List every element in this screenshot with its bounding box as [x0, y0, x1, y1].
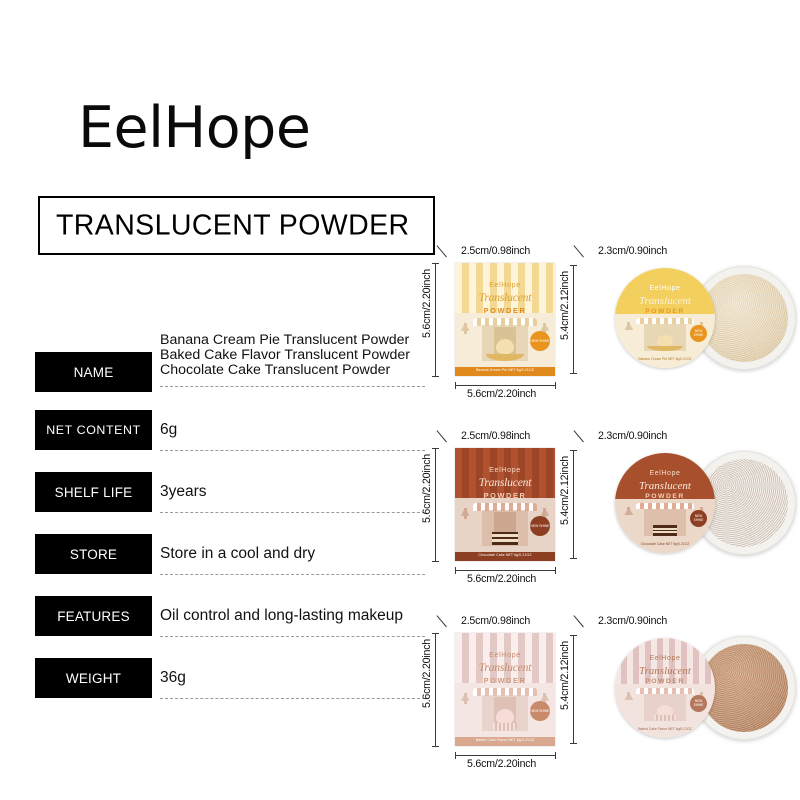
jar-height-label: 5.4cm/2.12inch: [559, 271, 571, 340]
lid-badge: NEW SHINE: [690, 695, 707, 712]
box-height-label: 5.6cm/2.20inch: [421, 639, 433, 708]
street-lamp-left-icon: [627, 322, 630, 330]
box-depth-leader: [436, 245, 446, 257]
cake-slice: [492, 532, 517, 546]
jar-depth-leader: [573, 245, 583, 257]
box-title-text: Translucent: [455, 476, 555, 489]
table-row: NET CONTENT 6g: [35, 410, 435, 456]
box-height-line: [435, 633, 436, 746]
badge-text: NEW SHINE: [690, 700, 707, 708]
table-row: FEATURES Oil control and long-lasting ma…: [35, 596, 435, 642]
product-title-box: TRANSLUCENT POWDER: [38, 196, 435, 255]
lid-brand-text: EelHope: [615, 655, 715, 662]
lid-brand-text: EelHope: [615, 470, 715, 477]
table-row: WEIGHT 36g: [35, 658, 435, 704]
product-box-chocolate: EelHope Translucent POWDER: [455, 448, 555, 561]
box-height-tick-top: [432, 448, 439, 449]
street-lamp-left-icon: [464, 693, 467, 704]
box-height-tick-bottom: [432, 746, 439, 747]
spec-label-features: FEATURES: [35, 596, 152, 636]
table-row: STORE Store in a cool and dry: [35, 534, 435, 580]
box-depth-leader: [436, 615, 446, 627]
spec-label-name: NAME: [35, 352, 152, 392]
chocolate-cake-illustration: [484, 524, 526, 547]
spec-table: NAME Banana Cream Pie Translucent Powder…: [35, 340, 435, 720]
box-width-line: [455, 755, 555, 756]
lid-badge: NEW SHINE: [690, 510, 707, 527]
box-brand-text: EelHope: [455, 650, 555, 659]
box-width-label: 5.6cm/2.20inch: [467, 573, 536, 585]
lid-title-text: Translucent: [615, 480, 715, 492]
box-depth-leader: [436, 430, 446, 442]
box-width-label: 5.6cm/2.20inch: [467, 388, 536, 400]
product-row-baked-cake: 2.5cm/0.98inch 5.6cm/2.20inch EelHope Tr…: [425, 595, 800, 780]
lid-subtitle-text: POWDER: [615, 493, 715, 500]
jar-height-tick-bottom: [570, 743, 577, 744]
box-width-tick-left: [455, 567, 456, 574]
cream-swirl: [496, 339, 515, 354]
jar-height-label: 5.4cm/2.12inch: [559, 641, 571, 710]
box-depth-label: 2.5cm/0.98inch: [461, 615, 530, 627]
box-height-label: 5.6cm/2.20inch: [421, 269, 433, 338]
lid-subtitle-text: POWDER: [615, 308, 715, 315]
box-badge: NEW SHINE: [530, 331, 550, 351]
row-divider: [160, 574, 425, 575]
cake-layer: [653, 528, 676, 530]
box-width-tick-right: [555, 752, 556, 759]
cake-slice: [653, 525, 676, 535]
badge-text: NEW SHINE: [530, 709, 549, 713]
row-divider: [160, 512, 425, 513]
box-footer-text: Chocolate Cake NET 6g/0.21OZ: [455, 553, 555, 558]
spec-value-shelf-life: 3years: [160, 472, 435, 512]
banana-cream-pie-illustration: [646, 335, 684, 352]
box-subtitle-text: POWDER: [455, 306, 555, 315]
name-line-1: Banana Cream Pie Translucent Powder: [160, 333, 435, 348]
box-height-tick-top: [432, 263, 439, 264]
lid-badge: NEW SHINE: [690, 325, 707, 342]
spec-value-net-content: 6g: [160, 410, 435, 450]
spec-value-weight: 36g: [160, 658, 435, 698]
row-divider: [160, 450, 425, 451]
jar-height-tick-top: [570, 450, 577, 451]
cupcake-illustration: [484, 709, 526, 732]
box-depth-label: 2.5cm/0.98inch: [461, 245, 530, 257]
product-row-banana: 2.5cm/0.98inch 5.6cm/2.20inch EelHope Tr…: [425, 225, 800, 410]
box-width-label: 5.6cm/2.20inch: [467, 758, 536, 770]
lid-brand-text: EelHope: [615, 285, 715, 292]
row-divider: [160, 636, 425, 637]
spec-label-shelf-life: SHELF LIFE: [35, 472, 152, 512]
box-badge: NEW SHINE: [530, 516, 550, 536]
box-height-tick-top: [432, 633, 439, 634]
box-badge: NEW SHINE: [530, 701, 550, 721]
compact-lid-chocolate: EelHope Translucent POWDER: [615, 453, 715, 553]
badge-text: NEW SHINE: [530, 339, 549, 343]
spec-value-store: Store in a cool and dry: [160, 534, 435, 574]
cake-layer: [653, 531, 676, 533]
compact-lid-banana: EelHope Translucent POWDER NEW SHINE B: [615, 268, 715, 368]
box-brand-text: EelHope: [455, 280, 555, 289]
cupcake-illustration: [646, 705, 684, 722]
compact-lid-baked-cake: EelHope Translucent POWDER NEW SHINE B: [615, 638, 715, 738]
product-box-banana: EelHope Translucent POWDER NEW SHINE: [455, 263, 555, 376]
jar-height-line: [573, 265, 574, 373]
row-divider: [160, 698, 425, 699]
box-height-line: [435, 448, 436, 561]
badge-text: NEW SHINE: [690, 515, 707, 523]
lid-footer-text: Chocolate Cake NET 6g/0.21OZ: [615, 542, 715, 546]
jar-depth-label: 2.3cm/0.90inch: [598, 615, 667, 627]
jar-depth-label: 2.3cm/0.90inch: [598, 430, 667, 442]
jar-height-tick-top: [570, 635, 577, 636]
jar-depth-leader: [573, 430, 583, 442]
box-height-label: 5.6cm/2.20inch: [421, 454, 433, 523]
box-height-tick-bottom: [432, 561, 439, 562]
brand-logo: EelHope: [78, 100, 310, 157]
box-title-text: Translucent: [455, 661, 555, 674]
spec-label-weight: WEIGHT: [35, 658, 152, 698]
box-height-tick-bottom: [432, 376, 439, 377]
box-width-tick-right: [555, 382, 556, 389]
box-subtitle-text: POWDER: [455, 676, 555, 685]
lid-subtitle-text: POWDER: [615, 678, 715, 685]
jar-depth-leader: [573, 615, 583, 627]
box-title-text: Translucent: [455, 291, 555, 304]
spec-value-name: Banana Cream Pie Translucent Powder Bake…: [160, 332, 435, 379]
chocolate-cake-illustration: [646, 520, 684, 537]
infographic-page: EelHope TRANSLUCENT POWDER NAME Banana C…: [0, 0, 800, 800]
box-width-tick-right: [555, 567, 556, 574]
badge-text: NEW SHINE: [530, 524, 549, 528]
table-row: NAME Banana Cream Pie Translucent Powder…: [35, 340, 435, 398]
cupcake-wrapper: [654, 715, 676, 722]
box-width-tick-left: [455, 752, 456, 759]
street-lamp-left-icon: [627, 692, 630, 700]
box-height-line: [435, 263, 436, 376]
box-footer-text: Banana Cream Pie NET 6g/0.21OZ: [455, 368, 555, 373]
jar-height-tick-bottom: [570, 373, 577, 374]
banana-cream-pie-illustration: [484, 339, 526, 362]
lid-title-text: Translucent: [615, 295, 715, 307]
lid-footer-text: Baked Cake Flavor NET 6g/0.21OZ: [615, 727, 715, 731]
cake-layer: [492, 539, 517, 542]
cupcake-wrapper: [493, 723, 517, 732]
product-box-baked-cake: EelHope Translucent POWDER NEW SHINE: [455, 633, 555, 746]
name-line-3: Chocolate Cake Translucent Powder: [160, 363, 435, 378]
row-divider: [160, 386, 425, 387]
spec-label-net-content: NET CONTENT: [35, 410, 152, 450]
box-width-line: [455, 385, 555, 386]
box-subtitle-text: POWDER: [455, 491, 555, 500]
cream-swirl: [657, 335, 674, 347]
table-row: SHELF LIFE 3years: [35, 472, 435, 518]
name-line-2: Baked Cake Flavor Translucent Powder: [160, 348, 435, 363]
pie-crust: [647, 346, 682, 351]
jar-height-label: 5.4cm/2.12inch: [559, 456, 571, 525]
street-lamp-left-icon: [627, 507, 630, 515]
lid-title-text: Translucent: [615, 665, 715, 677]
street-lamp-left-icon: [464, 323, 467, 334]
jar-height-tick-bottom: [570, 558, 577, 559]
box-depth-label: 2.5cm/0.98inch: [461, 430, 530, 442]
jar-height-line: [573, 450, 574, 558]
spec-label-store: STORE: [35, 534, 152, 574]
page-title: TRANSLUCENT POWDER: [56, 209, 409, 242]
box-width-line: [455, 570, 555, 571]
box-width-tick-left: [455, 382, 456, 389]
badge-text: NEW SHINE: [690, 330, 707, 338]
pie-crust: [486, 354, 525, 361]
spec-value-features: Oil control and long-lasting makeup: [160, 596, 435, 636]
jar-depth-label: 2.3cm/0.90inch: [598, 245, 667, 257]
box-brand-text: EelHope: [455, 465, 555, 474]
cake-layer: [492, 534, 517, 537]
product-dimension-column: 2.5cm/0.98inch 5.6cm/2.20inch EelHope Tr…: [425, 225, 800, 780]
jar-height-tick-top: [570, 265, 577, 266]
product-row-chocolate: 2.5cm/0.98inch 5.6cm/2.20inch EelHope Tr…: [425, 410, 800, 595]
box-footer-text: Baked Cake Flavor NET 6g/0.21OZ: [455, 738, 555, 743]
street-lamp-left-icon: [464, 508, 467, 519]
jar-height-line: [573, 635, 574, 743]
lid-footer-text: Banana Cream Pie NET 6g/0.21OZ: [615, 357, 715, 361]
